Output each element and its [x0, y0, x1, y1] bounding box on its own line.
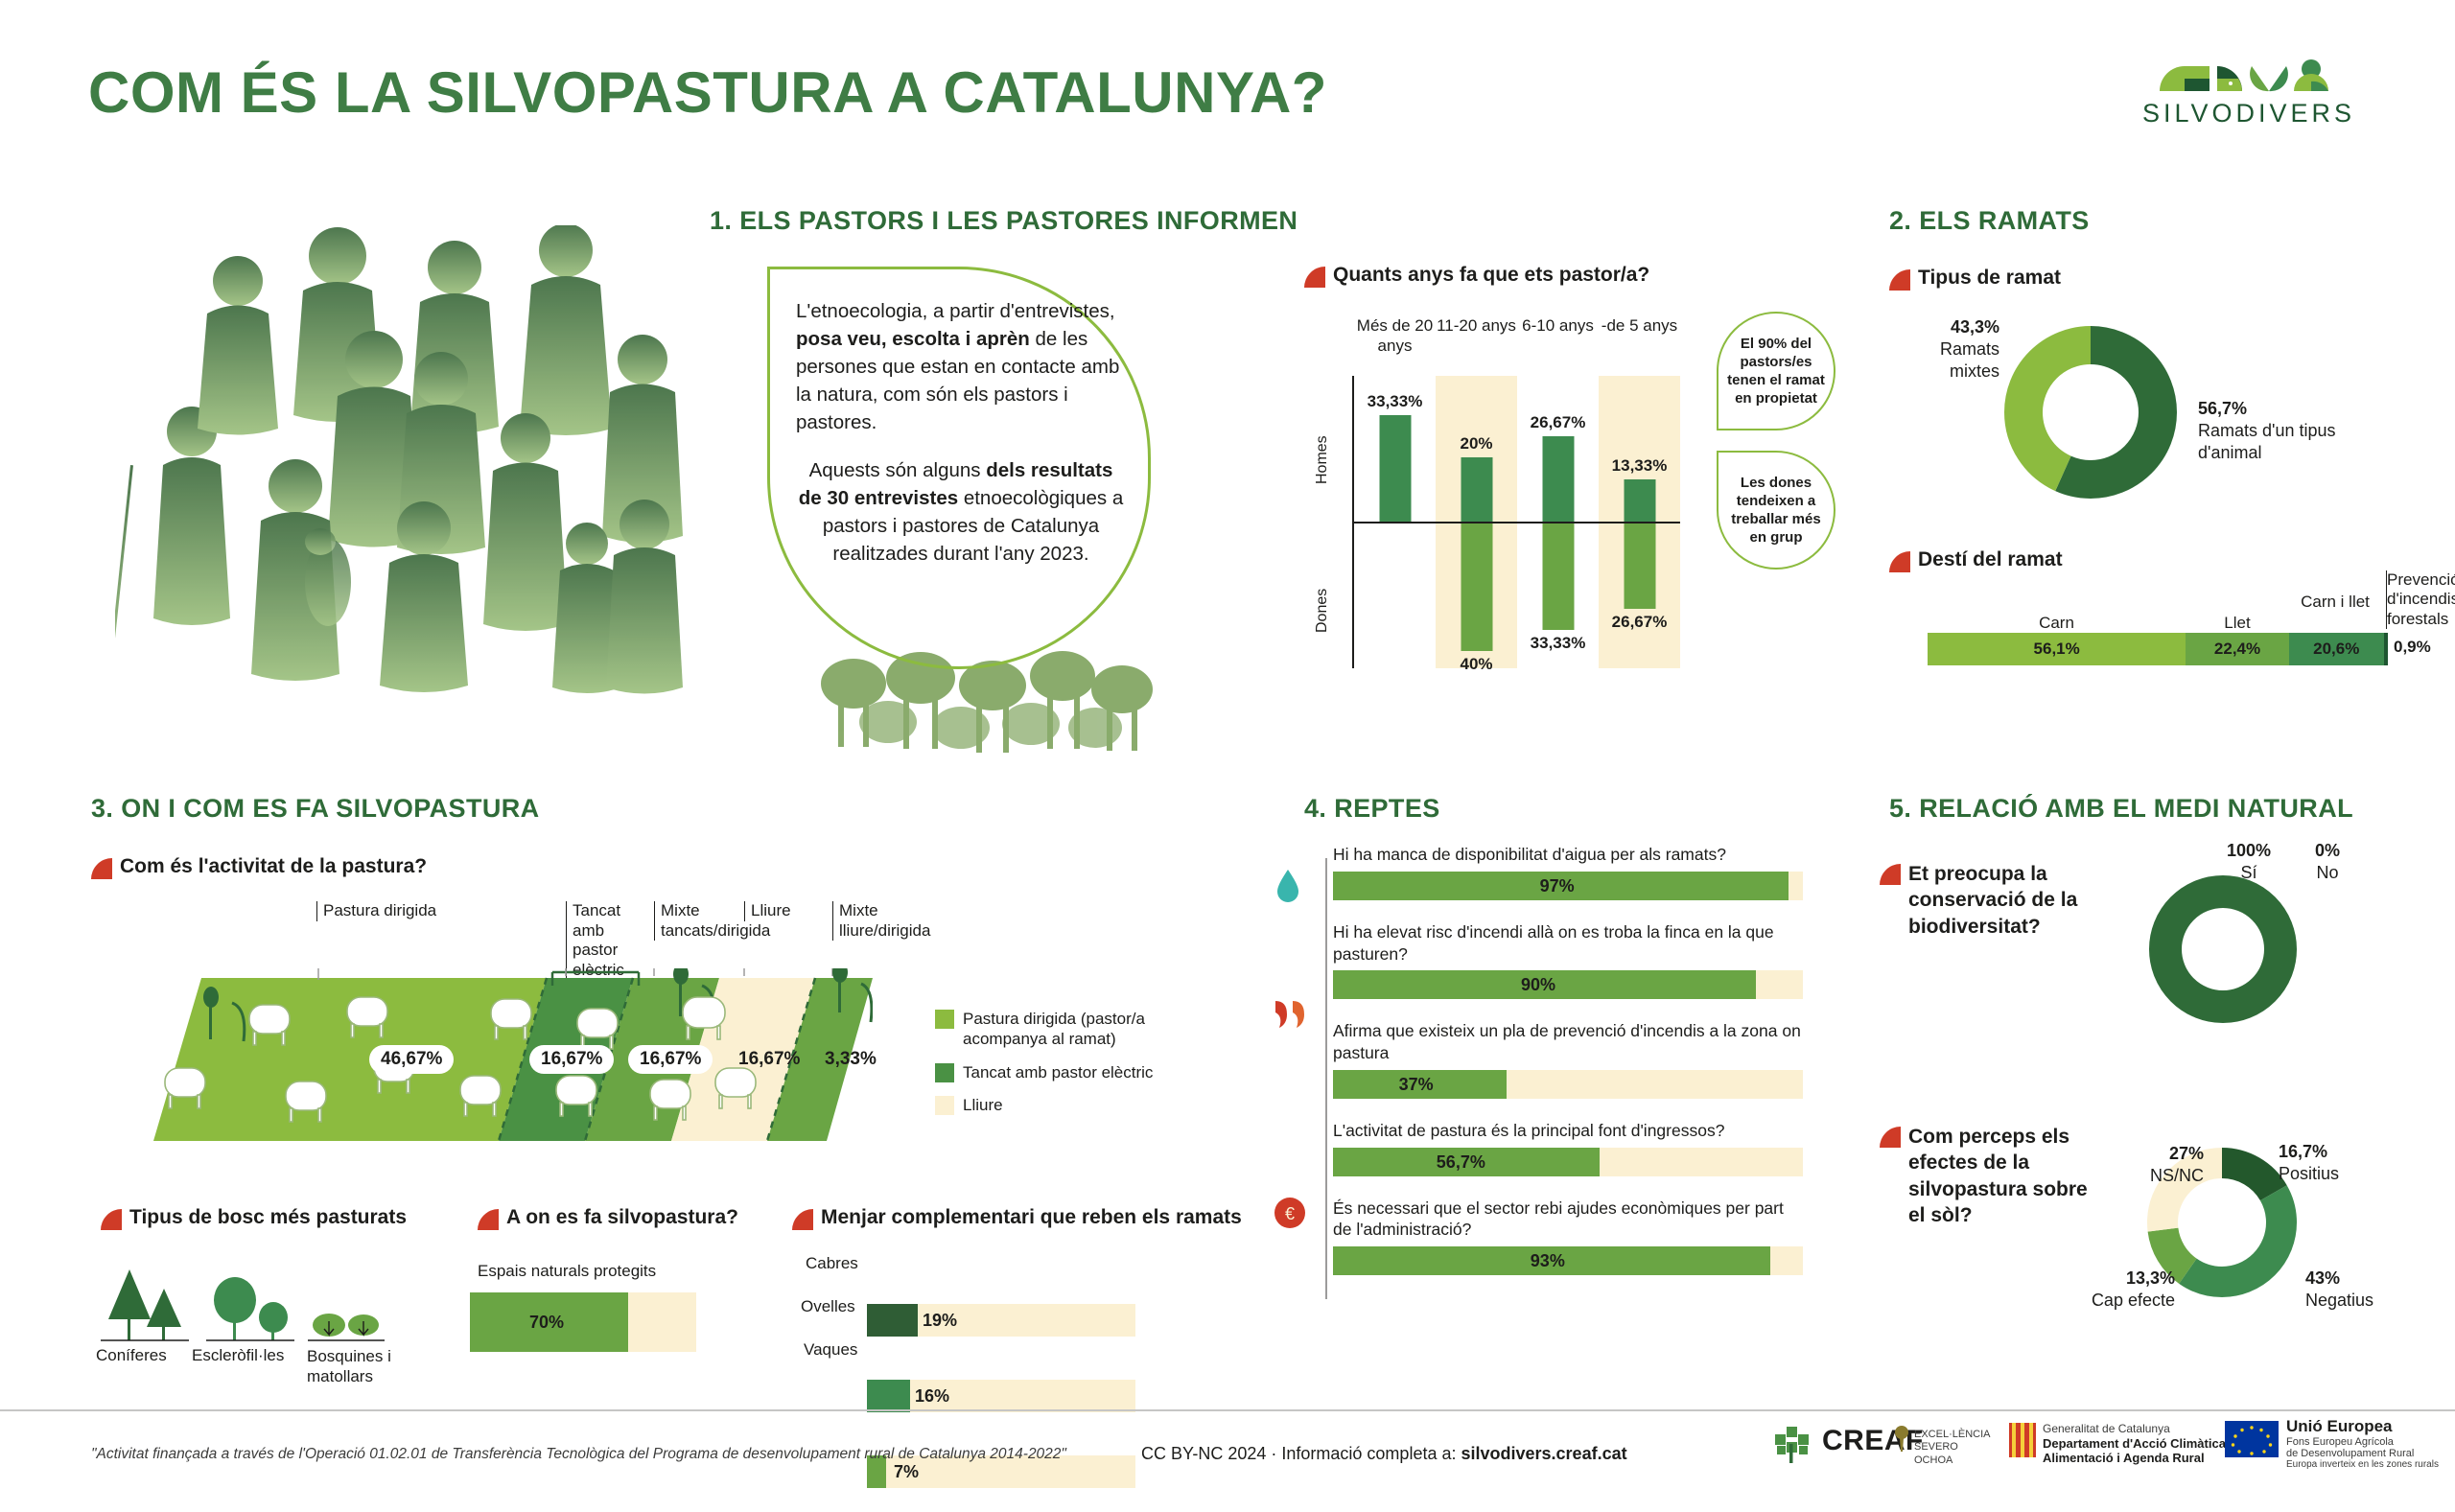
bar-homes-4 [1624, 479, 1655, 523]
protected-spaces-label: Espais naturals protegits [478, 1262, 656, 1281]
activitat-pastura-subhead: Com és l'activitat de la pastura? [91, 855, 427, 878]
protected-spaces-value: 70% [529, 1313, 564, 1333]
donut1-left-pct: 43,3% [1904, 316, 1999, 338]
donut3-nsnc-pct: 27% [2098, 1143, 2204, 1165]
barchart-axis-label-homes: Homes [1314, 435, 1331, 484]
quote-paragraph-1: L'etnoecologia, a partir d'entrevistes, … [796, 297, 1126, 437]
repte-item-1: Hi ha manca de disponibilitat d'aigua pe… [1333, 844, 1803, 900]
red-quadrant-icon [1889, 551, 1910, 572]
section-4-title: 4. REPTES [1304, 794, 1440, 824]
field-pct-3: 16,67% [628, 1045, 713, 1074]
desti-ramat-stacked-bar: 56,1% 22,4% 20,6% [1928, 633, 2388, 665]
bubble-women-groups: Les dones tendeixen a treballar més en g… [1717, 451, 1835, 570]
repte-value-4: 56,7% [1437, 1148, 1485, 1176]
donut3-cap-text: Cap efecte [2060, 1290, 2175, 1312]
generalitat-flag-icon [2009, 1423, 2036, 1457]
barchart-category-headers: Més de 20 anys 11-20 anys 6-10 anys -de … [1354, 316, 1680, 356]
barchart-subhead: Quants anys fa que ets pastor/a? [1304, 264, 1649, 287]
repte-item-2: Hi ha elevat risc d'incendi allà on es t… [1333, 921, 1803, 1000]
donut2-no-pct: 0% [2315, 840, 2340, 862]
desti-ramat-subhead: Destí del ramat [1889, 548, 2063, 571]
generalitat-text: Generalitat de Catalunya Departament d'A… [2043, 1422, 2234, 1466]
red-quadrant-icon [1880, 1127, 1901, 1148]
dest-header-llet: Llet [2186, 614, 2289, 633]
forest-type-icons [101, 1264, 388, 1360]
tipus-ramat-donut [2004, 326, 2177, 499]
repte-value-2: 90% [1521, 970, 1555, 999]
bar-label-homes-3: 26,67% [1531, 413, 1586, 432]
red-quadrant-icon [478, 1209, 499, 1230]
section-1-title: 1. ELS PASTORS I LES PASTORES INFORMEN [710, 206, 1298, 236]
donut2-label-no: 0% No [2315, 840, 2340, 883]
donut1-label-left: 43,3% Ramats mixtes [1904, 316, 1999, 383]
donut2-no-text: No [2315, 862, 2340, 884]
legend-item-1: Pastura dirigida (pastor/a acompanya al … [935, 1009, 1204, 1050]
field-pct-4: 16,67% [727, 1045, 811, 1074]
barchart-cat-2: 11-20 anys [1436, 316, 1517, 356]
repte-track-5: 93% [1333, 1246, 1803, 1275]
repte-item-4: L'activitat de pastura és la principal f… [1333, 1120, 1803, 1176]
menjar-value-cabres: 19% [923, 1311, 957, 1331]
bar-label-dones-3: 33,33% [1531, 634, 1586, 653]
repte-item-5: És necessari que el sector rebi ajudes e… [1333, 1198, 1803, 1276]
repte-question-4: L'activitat de pastura és la principal f… [1333, 1120, 1803, 1142]
legend-item-3: Lliure [935, 1095, 1204, 1115]
red-quadrant-icon [91, 858, 112, 879]
forest-label-esclerofilles: Escleròfil·les [192, 1346, 284, 1365]
field-header-3: Mixte tancats/dirigida [654, 901, 738, 941]
bar-label-homes-4: 13,33% [1612, 456, 1668, 476]
dest-header-carnillet: Carn i llet [2289, 593, 2381, 612]
protected-spaces-bar: 70% [470, 1292, 696, 1352]
biodiversitat-subhead: Et preocupa la conservació de la biodive… [1880, 861, 2100, 940]
biodiversitat-donut [2148, 874, 2298, 1024]
flame-icon [1272, 997, 1310, 1035]
field-pct-5: 3,33% [813, 1045, 888, 1074]
donut3-nsnc-text: NS/NC [2098, 1165, 2204, 1187]
donut3-negatius-text: Negatius [2305, 1290, 2373, 1312]
intro-quote-box: L'etnoecologia, a partir d'entrevistes, … [767, 267, 1151, 669]
dest-seg-llet: 22,4% [2186, 633, 2289, 665]
section-5-title: 5. RELACIÓ AMB EL MEDI NATURAL [1889, 794, 2353, 824]
repte-track-2: 90% [1333, 970, 1803, 999]
donut3-positius-pct: 16,7% [2279, 1141, 2339, 1163]
menjar-value-vaques: 7% [894, 1462, 919, 1482]
bubble-ownership: El 90% del pastors/es tenen el ramat en … [1717, 312, 1835, 430]
menjar-fill-ovelles [867, 1380, 910, 1412]
dest-seg-carnillet: 20,6% [2289, 633, 2384, 665]
field-header-5: Mixte lliure/dirigida [832, 901, 938, 941]
red-quadrant-icon [792, 1209, 813, 1230]
forest-label-coniferes: Coníferes [96, 1346, 167, 1365]
dest-header-carn: Carn [1928, 614, 2186, 633]
pasture-legend: Pastura dirigida (pastor/a acompanya al … [935, 1009, 1204, 1128]
repte-question-3: Afirma que existeix un pla de prevenció … [1333, 1020, 1803, 1064]
forest-label-bosquines: Bosquines i matollars [307, 1346, 412, 1386]
donut1-right-pct: 56,7% [2198, 398, 2366, 420]
donut1-right-text: Ramats d'un tipus d'animal [2198, 420, 2366, 464]
bar-dones-3 [1542, 523, 1574, 630]
page-title: COM ÉS LA SILVOPASTURA A CATALUNYA? [88, 59, 1327, 126]
legend-swatch-icon [935, 1096, 954, 1115]
menjar-label-vaques: Vaques [804, 1340, 857, 1360]
menjar-bar-cabres: 19% [867, 1304, 1135, 1337]
tipus-bosc-subhead: Tipus de bosc més pasturats [101, 1206, 407, 1229]
repte-track-3: 37% [1333, 1070, 1803, 1099]
repte-item-3: Afirma que existeix un pla de prevenció … [1333, 1020, 1803, 1099]
menjar-label-cabres: Cabres [806, 1254, 858, 1273]
pastors-group-photo [115, 225, 690, 695]
bar-homes-2 [1461, 457, 1492, 523]
section-2-title: 2. ELS RAMATS [1889, 206, 2090, 236]
eu-text: Unió Europea Fons Europeu Agrícola de De… [2286, 1417, 2449, 1470]
euro-icon: € [1274, 1197, 1306, 1229]
quote-paragraph-2: Aquests són alguns dels resultats de 30 … [796, 456, 1126, 568]
bar-label-dones-4: 26,67% [1612, 613, 1668, 632]
repte-question-1: Hi ha manca de disponibilitat d'aigua pe… [1333, 844, 1803, 866]
creaf-leaf-icon [1769, 1423, 1813, 1465]
red-quadrant-icon [101, 1209, 122, 1230]
eu-flag-icon [2225, 1421, 2279, 1457]
donut2-label-si: 100% Sí [2227, 840, 2271, 883]
repte-track-1: 97% [1333, 872, 1803, 900]
bar-homes-3 [1542, 436, 1574, 523]
donut2-si-text: Sí [2227, 862, 2271, 884]
donut1-label-right: 56,7% Ramats d'un tipus d'animal [2198, 398, 2366, 464]
field-header-4: Lliure [744, 901, 821, 921]
reptes-list: Hi ha manca de disponibilitat d'aigua pe… [1333, 844, 1803, 1296]
efectes-sol-subhead: Com perceps els efectes de la silvopastu… [1880, 1124, 2091, 1228]
severo-ochoa-text: EXCEL·LÈNCIA SEVERO OCHOA [1914, 1429, 1997, 1467]
severo-ochoa-icon [1894, 1425, 1909, 1454]
donut3-positius-text: Positius [2279, 1163, 2339, 1185]
svg-text:€: € [1285, 1204, 1295, 1223]
menjar-value-ovelles: 16% [915, 1386, 949, 1407]
barchart-axis-label-dones: Dones [1314, 589, 1331, 633]
legend-swatch-icon [935, 1063, 954, 1082]
red-quadrant-icon [1304, 267, 1325, 288]
dest-seg-carn: 56,1% [1928, 633, 2186, 665]
repte-value-3: 37% [1399, 1070, 1434, 1099]
bar-label-homes-2: 20% [1460, 434, 1492, 454]
footer-funding-note: "Activitat finançada a través de l'Opera… [91, 1446, 1066, 1463]
dest-seg-prevencio [2384, 633, 2388, 665]
repte-value-5: 93% [1531, 1246, 1565, 1275]
donut1-left-text: Ramats mixtes [1904, 338, 1999, 383]
footer-link[interactable]: silvodivers.creaf.cat [1461, 1444, 1626, 1463]
footer-license: CC BY-NC 2024 · Informació completa a: s… [1141, 1444, 1627, 1464]
field-pct-2: 16,67% [529, 1045, 614, 1074]
barchart-zero-axis [1354, 522, 1680, 523]
field-pct-1: 46,67% [369, 1045, 454, 1074]
years-shepherd-barchart: Més de 20 anys 11-20 anys 6-10 anys -de … [1304, 316, 1707, 690]
menjar-bar-ovelles: 16% [867, 1380, 1135, 1412]
repte-question-5: És necessari que el sector rebi ajudes e… [1333, 1198, 1803, 1242]
donut3-label-negatius: 43% Negatius [2305, 1268, 2373, 1311]
red-quadrant-icon [1880, 864, 1901, 885]
repte-track-4: 56,7% [1333, 1148, 1803, 1176]
donut2-si-pct: 100% [2227, 840, 2271, 862]
repte-question-2: Hi ha elevat risc d'incendi allà on es t… [1333, 921, 1803, 965]
legend-item-2: Tancat amb pastor elèctric [935, 1062, 1204, 1082]
dest-header-prevencio: Prevenció d'incendis forestals [2386, 570, 2455, 629]
bar-dones-4 [1624, 523, 1655, 609]
barchart-cat-1: Més de 20 anys [1354, 316, 1436, 356]
bar-homes-1 [1379, 415, 1411, 523]
logo-mark-icon [2158, 43, 2340, 95]
donut3-label-positius: 16,7% Positius [2279, 1141, 2339, 1184]
footer-divider [0, 1409, 2455, 1411]
water-drop-icon [1275, 868, 1300, 904]
reptes-vertical-rule [1325, 858, 1327, 1299]
donut3-cap-pct: 13,3% [2060, 1268, 2175, 1290]
dest-value-prevencio: 0,9% [2394, 638, 2431, 657]
silvodivers-logo: SILVODIVERS [2119, 43, 2378, 128]
logo-wordmark: SILVODIVERS [2119, 99, 2378, 128]
menjar-subhead: Menjar complementari que reben els ramat… [792, 1206, 1242, 1229]
repte-value-1: 97% [1540, 872, 1575, 900]
tipus-ramat-subhead: Tipus de ramat [1889, 267, 2061, 290]
red-quadrant-icon [1889, 269, 1910, 291]
on-silvopastura-subhead: A on es fa silvopastura? [478, 1206, 738, 1229]
menjar-fill-cabres [867, 1304, 918, 1337]
bar-label-homes-1: 33,33% [1368, 392, 1423, 411]
menjar-label-ovelles: Ovelles [801, 1297, 855, 1316]
donut3-label-nsnc: 27% NS/NC [2098, 1143, 2204, 1186]
barchart-cat-3: 6-10 anys [1517, 316, 1599, 356]
field-header-1: Pastura dirigida [316, 901, 556, 921]
donut3-negatius-pct: 43% [2305, 1268, 2373, 1290]
bar-dones-2 [1461, 523, 1492, 651]
section-3-title: 3. ON I COM ES FA SILVOPASTURA [91, 794, 540, 824]
bar-label-dones-2: 40% [1460, 655, 1492, 674]
legend-swatch-icon [935, 1010, 954, 1029]
donut3-label-cap: 13,3% Cap efecte [2060, 1268, 2175, 1311]
barchart-cat-4: -de 5 anys [1599, 316, 1680, 356]
